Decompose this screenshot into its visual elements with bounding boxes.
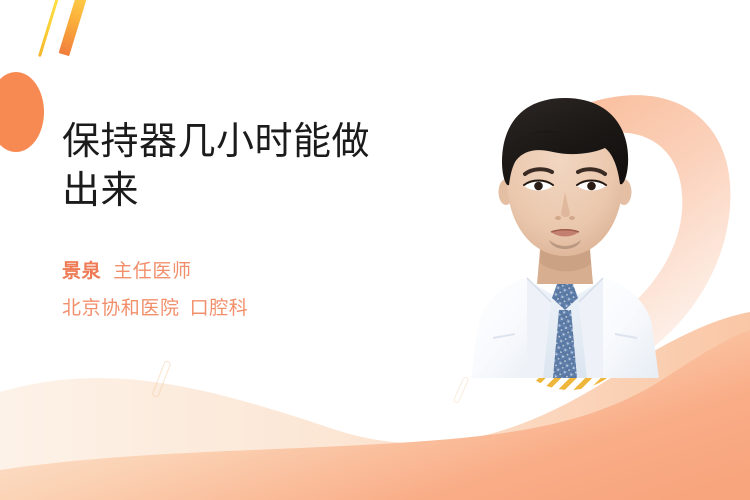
doctor-name: 景泉 [62, 261, 101, 282]
promo-card: 保持器几小时能做 出来 景泉主任医师 北京协和医院口腔科 [0, 0, 750, 500]
yellow-stripe-decoration [38, 0, 59, 57]
hairline-mark-left [151, 360, 171, 398]
hairline-mark-center [453, 376, 470, 404]
page-title: 保持器几小时能做 出来 [62, 118, 432, 215]
doctor-photo [465, 88, 665, 378]
portrait-group [430, 78, 750, 378]
hospital-name: 北京协和医院 [62, 298, 180, 319]
doctor-title: 主任医师 [113, 261, 191, 282]
department-name: 口腔科 [190, 298, 249, 319]
orange-stripe-decoration [59, 0, 89, 56]
affiliation-line: 北京协和医院口腔科 [62, 290, 432, 327]
byline: 景泉主任医师 北京协和医院口腔科 [62, 215, 432, 327]
text-block: 保持器几小时能做 出来 景泉主任医师 北京协和医院口腔科 [62, 118, 432, 327]
orange-dot-decoration [0, 72, 44, 152]
